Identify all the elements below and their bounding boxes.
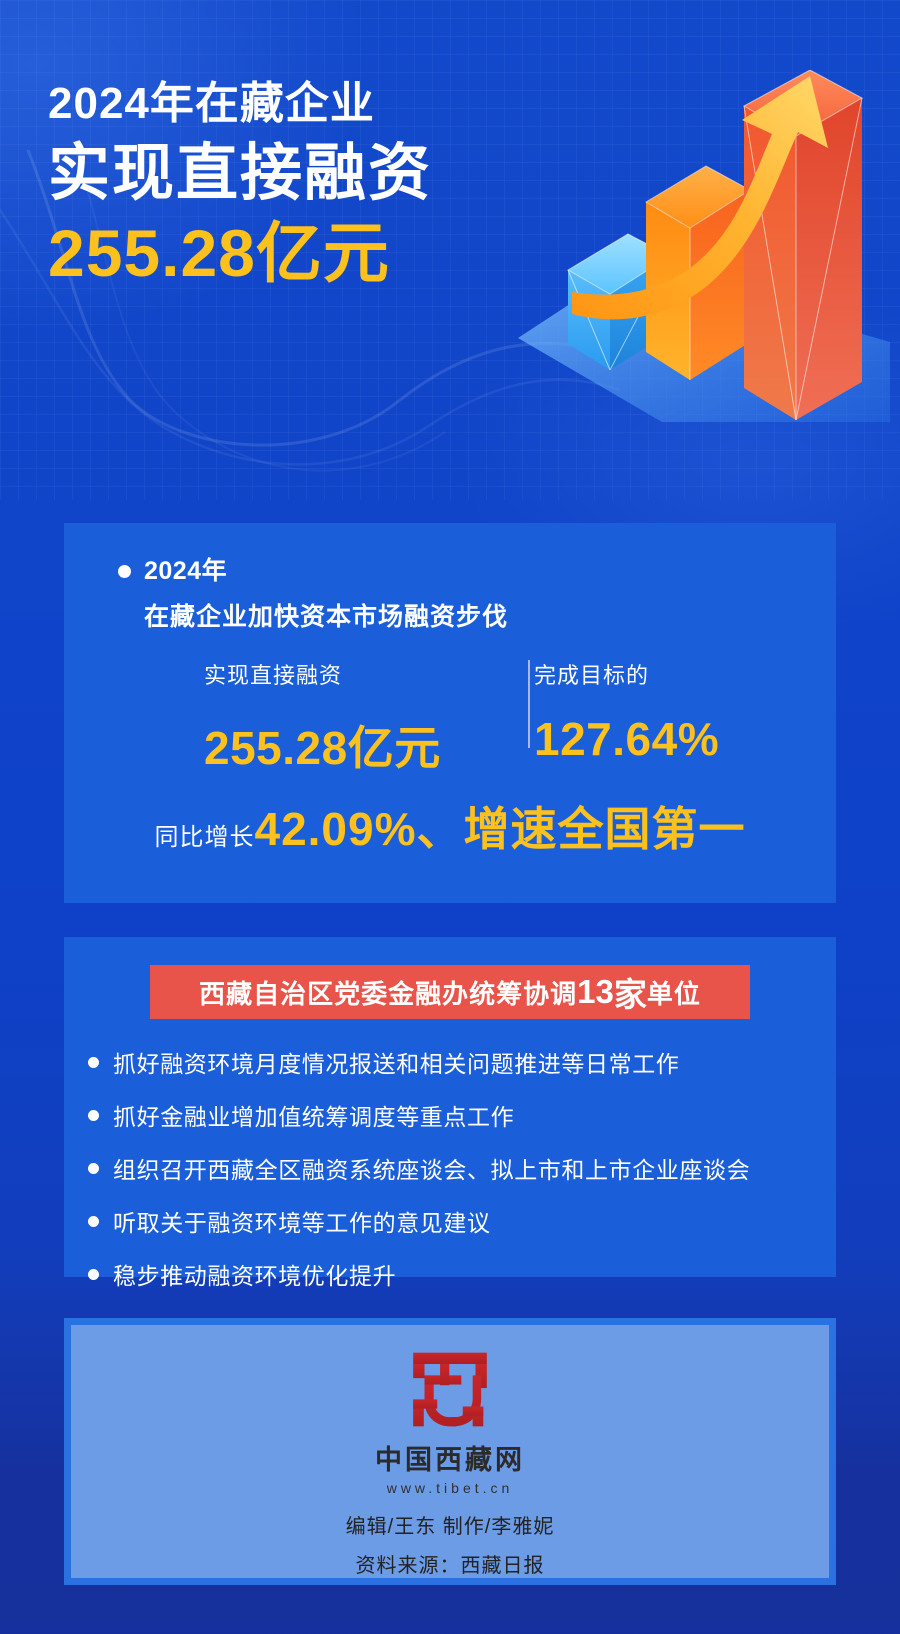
metric-value: 127.64% bbox=[534, 712, 719, 766]
bullet-dot-icon bbox=[88, 1057, 99, 1068]
banner-text: 西藏自治区党委金融办统筹协调 bbox=[199, 974, 577, 1011]
list-item: 抓好金融业增加值统筹调度等重点工作 bbox=[80, 1098, 840, 1132]
banner-unit: 家 bbox=[614, 968, 647, 1016]
hero-title-block: 2024年在藏企业 实现直接融资 255.28亿元 bbox=[48, 78, 432, 293]
growth-prefix: 同比增长 bbox=[154, 824, 254, 851]
bullet-dot-icon bbox=[88, 1110, 99, 1121]
stats-subtitle: 在藏企业加快资本市场融资步伐 bbox=[144, 597, 508, 633]
infographic-poster: 2024年在藏企业 实现直接融资 255.28亿元 bbox=[0, 0, 900, 1634]
isometric-bar-chart-icon bbox=[510, 70, 890, 480]
metric-label: 实现直接融资 bbox=[204, 658, 441, 690]
bullet-dot-icon bbox=[118, 565, 131, 578]
list-item-label: 抓好融资环境月度情况报送和相关问题推进等日常工作 bbox=[113, 1045, 679, 1079]
tibet-seal-logo-icon bbox=[398, 1347, 502, 1432]
bullet-dot-icon bbox=[88, 1269, 99, 1280]
metric-value: 255.28亿元 bbox=[204, 712, 441, 778]
metric-target: 完成目标的 127.64% bbox=[534, 658, 719, 766]
task-list: 抓好融资环境月度情况报送和相关问题推进等日常工作 抓好金融业增加值统筹调度等重点… bbox=[80, 1045, 840, 1310]
bullet-dot-icon bbox=[88, 1216, 99, 1227]
stats-card: 2024年 在藏企业加快资本市场融资步伐 实现直接融资 255.28亿元 完成目… bbox=[64, 523, 836, 903]
growth-value: 42.09%、增速全国第一 bbox=[254, 803, 745, 855]
footer-inner: 中国西藏网 www.tibet.cn 编辑/王东 制作/李雅妮 资料来源：西藏日… bbox=[71, 1325, 829, 1578]
metric-divider bbox=[528, 660, 530, 748]
list-item: 稳步推动融资环境优化提升 bbox=[80, 1257, 840, 1291]
banner-tail: 单位 bbox=[647, 974, 701, 1011]
hero-section: 2024年在藏企业 实现直接融资 255.28亿元 bbox=[0, 0, 900, 495]
list-item-label: 组织召开西藏全区融资系统座谈会、拟上市和上市企业座谈会 bbox=[113, 1151, 750, 1185]
footer-card: 中国西藏网 www.tibet.cn 编辑/王东 制作/李雅妮 资料来源：西藏日… bbox=[64, 1318, 836, 1585]
banner-number: 13 bbox=[577, 973, 614, 1011]
metric-label: 完成目标的 bbox=[534, 658, 719, 690]
site-name: 中国西藏网 bbox=[375, 1438, 525, 1477]
list-item-label: 抓好金融业增加值统筹调度等重点工作 bbox=[113, 1098, 514, 1132]
credit-line: 编辑/王东 制作/李雅妮 bbox=[346, 1510, 555, 1539]
stats-year: 2024年 bbox=[144, 551, 227, 587]
page-title-line2: 实现直接融资 bbox=[48, 136, 432, 212]
stats-card-header: 2024年 在藏企业加快资本市场融资步伐 bbox=[118, 551, 508, 633]
page-title-line1: 2024年在藏企业 bbox=[48, 78, 432, 130]
growth-line: 同比增长42.09%、增速全国第一 bbox=[64, 793, 836, 859]
list-item: 听取关于融资环境等工作的意见建议 bbox=[80, 1204, 840, 1238]
list-item: 抓好融资环境月度情况报送和相关问题推进等日常工作 bbox=[80, 1045, 840, 1079]
metric-financing: 实现直接融资 255.28亿元 bbox=[204, 658, 441, 778]
list-item-label: 稳步推动融资环境优化提升 bbox=[113, 1257, 396, 1291]
page-title-amount: 255.28亿元 bbox=[48, 214, 432, 293]
list-item-label: 听取关于融资环境等工作的意见建议 bbox=[113, 1204, 491, 1238]
tasks-card: 西藏自治区党委金融办统筹协调13家单位 抓好融资环境月度情况报送和相关问题推进等… bbox=[64, 937, 836, 1277]
site-url: www.tibet.cn bbox=[387, 1480, 514, 1496]
list-item: 组织召开西藏全区融资系统座谈会、拟上市和上市企业座谈会 bbox=[80, 1151, 840, 1185]
coordination-banner: 西藏自治区党委金融办统筹协调13家单位 bbox=[150, 965, 750, 1019]
bullet-dot-icon bbox=[88, 1163, 99, 1174]
source-line: 资料来源：西藏日报 bbox=[356, 1549, 545, 1578]
